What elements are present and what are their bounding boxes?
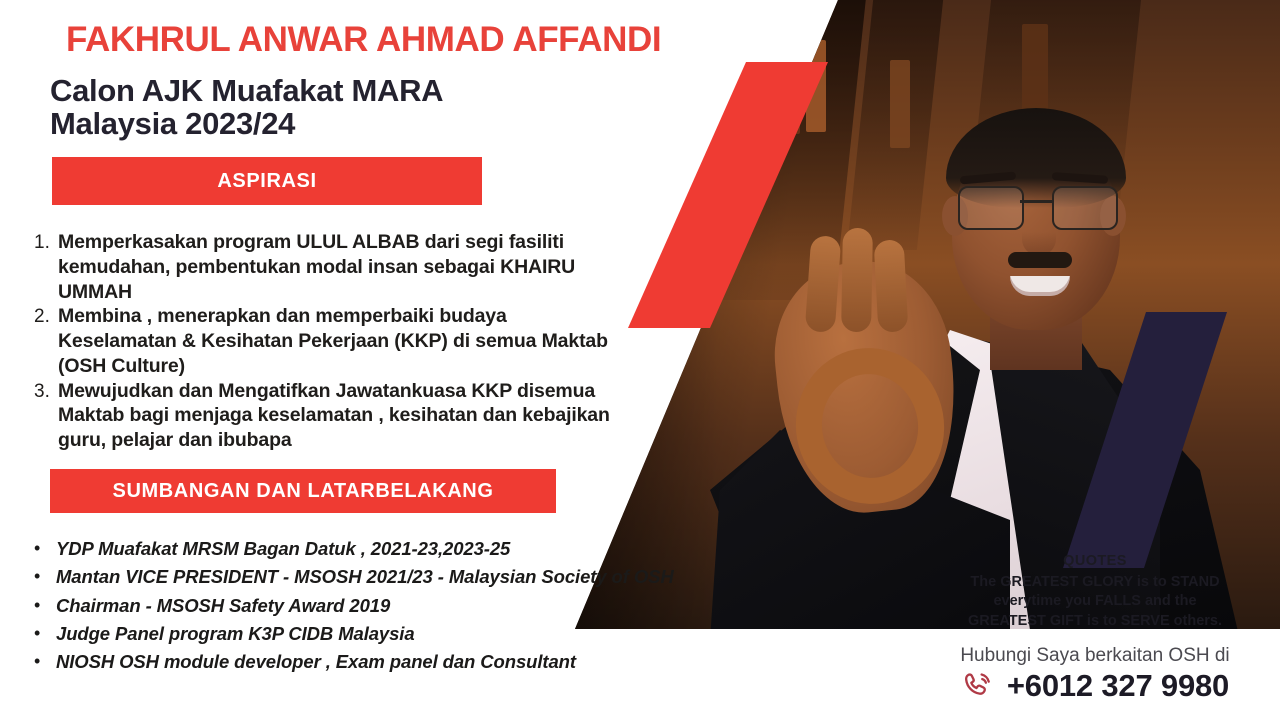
contact-phone-row[interactable]: +6012 327 9980 bbox=[930, 668, 1260, 704]
finger bbox=[874, 239, 909, 332]
bullet-icon: • bbox=[34, 649, 56, 675]
subtitle-line-1: Calon AJK Muafakat MARA bbox=[50, 74, 443, 107]
quote-line-2: everytime you FALLS and the bbox=[930, 592, 1260, 612]
quote-line-3: GREATEST GIFT is to SERVE others. bbox=[930, 612, 1260, 632]
list-item: • Mantan VICE PRESIDENT - MSOSH 2021/23 … bbox=[34, 564, 674, 590]
subtitle: Calon AJK Muafakat MARA Malaysia 2023/24 bbox=[50, 74, 443, 141]
list-marker: 3. bbox=[34, 379, 58, 404]
quotes-block: QUOTES The GREATEST GLORY is to STAND ev… bbox=[930, 552, 1260, 632]
bullet-icon: • bbox=[34, 564, 56, 590]
aspirasi-list: 1. Memperkasakan program ULUL ALBAB dari… bbox=[34, 230, 624, 453]
contact-prompt: Hubungi Saya berkaitan OSH di bbox=[930, 645, 1260, 667]
campaign-poster: FAKHRUL ANWAR AHMAD AFFANDI Calon AJK Mu… bbox=[0, 0, 1280, 720]
aspirasi-banner: ASPIRASI bbox=[52, 157, 482, 205]
list-item-text: Membina , menerapkan dan memperbaiki bud… bbox=[58, 304, 624, 378]
list-item-text: Memperkasakan program ULUL ALBAB dari se… bbox=[58, 230, 624, 304]
sumbangan-banner: SUMBANGAN DAN LATARBELAKANG bbox=[50, 469, 556, 513]
bullet-icon: • bbox=[34, 621, 56, 647]
list-item: • YDP Muafakat MRSM Bagan Datuk , 2021-2… bbox=[34, 536, 674, 562]
glasses-bridge bbox=[1020, 200, 1052, 203]
list-marker: 1. bbox=[34, 230, 58, 255]
list-item-text: Chairman - MSOSH Safety Award 2019 bbox=[56, 593, 390, 619]
phone-number: +6012 327 9980 bbox=[1007, 668, 1229, 704]
lens-left bbox=[958, 186, 1024, 230]
list-item: • NIOSH OSH module developer , Exam pane… bbox=[34, 649, 674, 675]
list-item: 1. Memperkasakan program ULUL ALBAB dari… bbox=[34, 230, 624, 304]
list-item-text: Mantan VICE PRESIDENT - MSOSH 2021/23 - … bbox=[56, 564, 674, 590]
list-item-text: YDP Muafakat MRSM Bagan Datuk , 2021-23,… bbox=[56, 536, 510, 562]
nose bbox=[1022, 216, 1056, 256]
list-item-text: NIOSH OSH module developer , Exam panel … bbox=[56, 649, 576, 675]
bullet-icon: • bbox=[34, 536, 56, 562]
mustache bbox=[1008, 252, 1072, 268]
lens-right bbox=[1052, 186, 1118, 230]
sumbangan-list: • YDP Muafakat MRSM Bagan Datuk , 2021-2… bbox=[34, 536, 674, 677]
book bbox=[890, 60, 910, 148]
list-item: • Judge Panel program K3P CIDB Malaysia bbox=[34, 621, 674, 647]
phone-call-icon bbox=[961, 669, 995, 703]
quote-line-1: The GREATEST GLORY is to STAND bbox=[930, 573, 1260, 593]
list-item: 2. Membina , menerapkan dan memperbaiki … bbox=[34, 304, 624, 378]
list-item: 3. Mewujudkan dan Mengatifkan Jawatankua… bbox=[34, 379, 624, 453]
subtitle-line-2: Malaysia 2023/24 bbox=[50, 107, 443, 140]
list-item: • Chairman - MSOSH Safety Award 2019 bbox=[34, 593, 674, 619]
list-marker: 2. bbox=[34, 304, 58, 329]
quotes-heading: QUOTES bbox=[930, 552, 1260, 572]
list-item-text: Judge Panel program K3P CIDB Malaysia bbox=[56, 621, 415, 647]
finger bbox=[841, 228, 873, 333]
page-title: FAKHRUL ANWAR AHMAD AFFANDI bbox=[66, 20, 661, 60]
list-item-text: Mewujudkan dan Mengatifkan Jawatankuasa … bbox=[58, 379, 624, 453]
bullet-icon: • bbox=[34, 593, 56, 619]
